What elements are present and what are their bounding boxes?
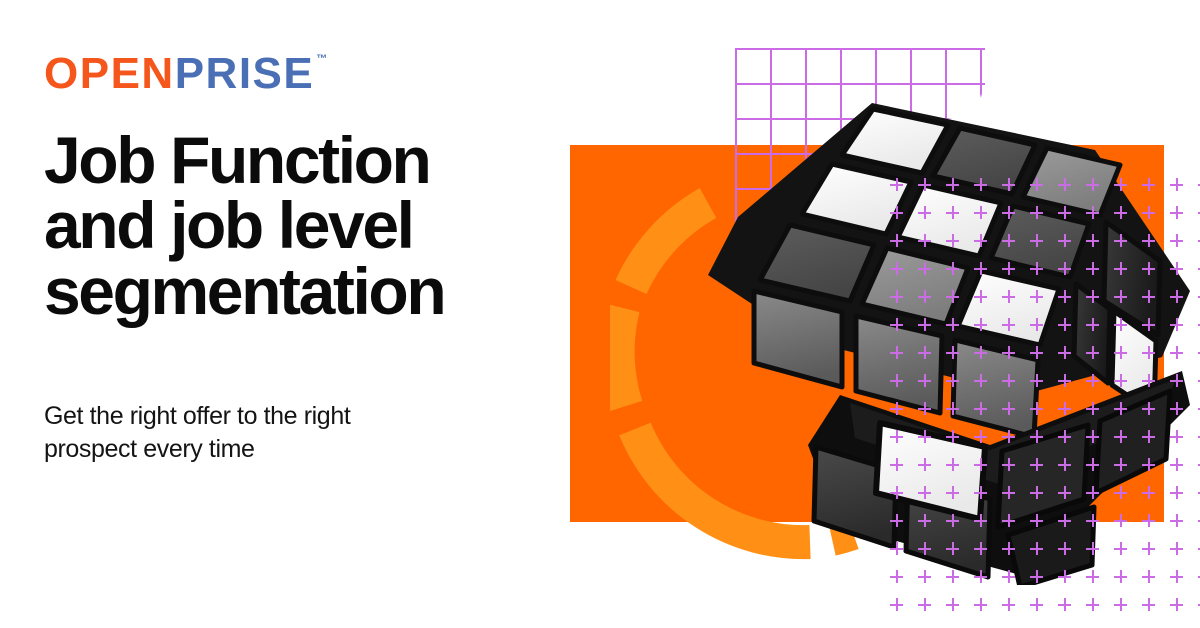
plus-marker bbox=[1170, 542, 1183, 555]
plus-marker bbox=[946, 374, 959, 387]
plus-marker bbox=[1142, 262, 1155, 275]
plus-marker bbox=[1114, 206, 1127, 219]
plus-marker bbox=[1058, 542, 1071, 555]
plus-marker bbox=[1030, 430, 1043, 443]
plus-marker bbox=[1114, 430, 1127, 443]
plus-marker bbox=[890, 206, 903, 219]
plus-marker bbox=[1002, 290, 1015, 303]
plus-marker bbox=[946, 346, 959, 359]
plus-marker bbox=[974, 374, 987, 387]
plus-marker bbox=[946, 598, 959, 611]
plus-marker bbox=[1030, 262, 1043, 275]
plus-marker bbox=[1142, 486, 1155, 499]
plus-marker bbox=[918, 178, 931, 191]
plus-marker bbox=[1002, 346, 1015, 359]
plus-marker bbox=[1058, 178, 1071, 191]
plus-marker bbox=[890, 486, 903, 499]
plus-marker bbox=[1030, 234, 1043, 247]
plus-marker bbox=[1058, 514, 1071, 527]
plus-marker bbox=[1170, 486, 1183, 499]
plus-marker bbox=[1114, 374, 1127, 387]
plus-marker bbox=[1030, 598, 1043, 611]
plus-marker bbox=[1030, 206, 1043, 219]
plus-marker bbox=[1058, 458, 1071, 471]
plus-marker bbox=[918, 262, 931, 275]
page-subtitle: Get the right offer to the right prospec… bbox=[44, 400, 474, 465]
plus-marker bbox=[974, 178, 987, 191]
plus-marker bbox=[946, 234, 959, 247]
plus-marker bbox=[1002, 458, 1015, 471]
plus-marker bbox=[974, 430, 987, 443]
plus-marker bbox=[1058, 402, 1071, 415]
plus-marker bbox=[1002, 402, 1015, 415]
banner-canvas: OPEN PRISE ™ Job Function and job level … bbox=[0, 0, 1200, 628]
plus-marker bbox=[918, 570, 931, 583]
plus-marker bbox=[1002, 430, 1015, 443]
plus-marker bbox=[1170, 430, 1183, 443]
plus-marker bbox=[1114, 402, 1127, 415]
plus-marker bbox=[1002, 374, 1015, 387]
plus-marker bbox=[1114, 514, 1127, 527]
subtitle-line-2: prospect every time bbox=[44, 433, 474, 466]
plus-marker bbox=[974, 346, 987, 359]
plus-marker bbox=[1086, 542, 1099, 555]
plus-marker bbox=[1170, 290, 1183, 303]
plus-marker bbox=[1086, 346, 1099, 359]
plus-marker bbox=[1142, 598, 1155, 611]
plus-marker bbox=[890, 178, 903, 191]
plus-marker bbox=[1002, 486, 1015, 499]
plus-marker bbox=[1170, 318, 1183, 331]
plus-marker bbox=[1142, 318, 1155, 331]
purple-plus-grid-decoration bbox=[890, 178, 1200, 598]
plus-marker bbox=[890, 290, 903, 303]
plus-marker bbox=[1002, 318, 1015, 331]
plus-marker bbox=[946, 178, 959, 191]
plus-marker bbox=[918, 486, 931, 499]
plus-marker bbox=[890, 430, 903, 443]
plus-marker bbox=[1030, 486, 1043, 499]
plus-marker bbox=[974, 542, 987, 555]
plus-marker bbox=[1170, 598, 1183, 611]
hero-graphic bbox=[540, 0, 1200, 628]
page-title: Job Function and job level segmentation bbox=[44, 128, 564, 324]
headline-line-1: Job Function bbox=[44, 128, 564, 193]
plus-marker bbox=[1058, 318, 1071, 331]
plus-marker bbox=[1030, 318, 1043, 331]
plus-marker bbox=[1058, 262, 1071, 275]
plus-marker bbox=[1114, 346, 1127, 359]
plus-marker bbox=[1002, 514, 1015, 527]
plus-marker bbox=[1030, 178, 1043, 191]
subtitle-line-1: Get the right offer to the right bbox=[44, 400, 474, 433]
plus-marker bbox=[1114, 234, 1127, 247]
plus-marker bbox=[1142, 570, 1155, 583]
plus-marker bbox=[1002, 206, 1015, 219]
plus-marker bbox=[974, 234, 987, 247]
plus-marker bbox=[946, 542, 959, 555]
plus-marker bbox=[946, 290, 959, 303]
plus-marker bbox=[918, 514, 931, 527]
plus-marker bbox=[946, 570, 959, 583]
plus-marker bbox=[890, 234, 903, 247]
plus-marker bbox=[1002, 598, 1015, 611]
plus-marker bbox=[1170, 402, 1183, 415]
plus-marker bbox=[1114, 542, 1127, 555]
plus-marker bbox=[1086, 318, 1099, 331]
plus-marker bbox=[1030, 290, 1043, 303]
plus-marker bbox=[1058, 206, 1071, 219]
plus-marker bbox=[890, 458, 903, 471]
plus-marker bbox=[1114, 570, 1127, 583]
logo-text-prise: PRISE bbox=[175, 52, 315, 96]
logo-text-open: OPEN bbox=[44, 52, 175, 96]
plus-marker bbox=[1170, 346, 1183, 359]
plus-marker bbox=[1030, 570, 1043, 583]
plus-marker bbox=[1170, 262, 1183, 275]
plus-marker bbox=[918, 206, 931, 219]
plus-marker bbox=[1142, 290, 1155, 303]
plus-marker bbox=[1114, 598, 1127, 611]
plus-marker bbox=[1142, 514, 1155, 527]
plus-marker bbox=[1142, 542, 1155, 555]
plus-marker bbox=[1086, 290, 1099, 303]
plus-marker bbox=[1058, 430, 1071, 443]
plus-marker bbox=[974, 458, 987, 471]
plus-marker bbox=[1170, 206, 1183, 219]
plus-marker bbox=[890, 262, 903, 275]
plus-marker bbox=[1170, 234, 1183, 247]
plus-marker bbox=[1170, 458, 1183, 471]
plus-marker bbox=[890, 346, 903, 359]
plus-marker bbox=[946, 514, 959, 527]
plus-marker bbox=[1086, 486, 1099, 499]
plus-marker bbox=[974, 262, 987, 275]
plus-marker bbox=[918, 458, 931, 471]
trademark-symbol: ™ bbox=[316, 54, 328, 65]
plus-marker bbox=[1114, 486, 1127, 499]
plus-marker bbox=[1030, 514, 1043, 527]
plus-marker bbox=[1086, 514, 1099, 527]
plus-marker bbox=[1002, 542, 1015, 555]
plus-marker bbox=[918, 290, 931, 303]
plus-marker bbox=[918, 318, 931, 331]
plus-marker bbox=[974, 290, 987, 303]
plus-marker bbox=[1086, 570, 1099, 583]
plus-marker bbox=[918, 234, 931, 247]
plus-marker bbox=[1170, 178, 1183, 191]
plus-marker bbox=[1086, 430, 1099, 443]
plus-marker bbox=[1114, 178, 1127, 191]
plus-marker bbox=[1086, 206, 1099, 219]
plus-marker bbox=[1086, 178, 1099, 191]
plus-marker bbox=[1030, 542, 1043, 555]
plus-marker bbox=[974, 318, 987, 331]
plus-marker bbox=[974, 402, 987, 415]
plus-marker bbox=[974, 206, 987, 219]
plus-marker bbox=[1086, 234, 1099, 247]
plus-marker bbox=[1142, 430, 1155, 443]
plus-marker bbox=[1086, 598, 1099, 611]
headline-line-2: and job level bbox=[44, 193, 564, 258]
plus-marker bbox=[1030, 374, 1043, 387]
plus-marker bbox=[918, 402, 931, 415]
plus-marker bbox=[1058, 290, 1071, 303]
plus-marker bbox=[1114, 318, 1127, 331]
plus-marker bbox=[1002, 262, 1015, 275]
plus-marker bbox=[1142, 206, 1155, 219]
plus-marker bbox=[918, 374, 931, 387]
plus-marker bbox=[1058, 234, 1071, 247]
plus-marker bbox=[1170, 514, 1183, 527]
plus-marker bbox=[946, 458, 959, 471]
plus-marker bbox=[918, 430, 931, 443]
plus-marker bbox=[1170, 570, 1183, 583]
plus-marker bbox=[1142, 234, 1155, 247]
plus-marker bbox=[974, 598, 987, 611]
plus-marker bbox=[974, 486, 987, 499]
plus-marker bbox=[946, 318, 959, 331]
openprise-logo[interactable]: OPEN PRISE ™ bbox=[44, 52, 328, 96]
plus-marker bbox=[1058, 486, 1071, 499]
plus-marker bbox=[1114, 458, 1127, 471]
plus-marker bbox=[1142, 178, 1155, 191]
plus-marker bbox=[890, 598, 903, 611]
plus-marker bbox=[890, 374, 903, 387]
plus-marker bbox=[1030, 458, 1043, 471]
plus-marker bbox=[1142, 458, 1155, 471]
plus-marker bbox=[1058, 346, 1071, 359]
plus-marker bbox=[1142, 374, 1155, 387]
plus-marker bbox=[890, 514, 903, 527]
plus-marker bbox=[1086, 374, 1099, 387]
plus-marker bbox=[1002, 178, 1015, 191]
plus-marker bbox=[1030, 346, 1043, 359]
plus-marker bbox=[1002, 234, 1015, 247]
plus-marker bbox=[946, 430, 959, 443]
plus-marker bbox=[974, 514, 987, 527]
plus-marker bbox=[1002, 570, 1015, 583]
plus-marker bbox=[946, 486, 959, 499]
plus-marker bbox=[946, 262, 959, 275]
plus-marker bbox=[918, 542, 931, 555]
plus-marker bbox=[1058, 570, 1071, 583]
plus-marker bbox=[946, 402, 959, 415]
plus-marker bbox=[890, 570, 903, 583]
headline-line-3: segmentation bbox=[44, 259, 564, 324]
plus-marker bbox=[918, 346, 931, 359]
plus-marker bbox=[890, 318, 903, 331]
plus-marker bbox=[946, 206, 959, 219]
plus-marker bbox=[918, 598, 931, 611]
plus-marker bbox=[974, 570, 987, 583]
plus-marker bbox=[1086, 262, 1099, 275]
plus-marker bbox=[1030, 402, 1043, 415]
plus-marker bbox=[1086, 402, 1099, 415]
plus-marker bbox=[1142, 346, 1155, 359]
plus-marker bbox=[1114, 262, 1127, 275]
plus-marker bbox=[1086, 458, 1099, 471]
plus-marker bbox=[1142, 402, 1155, 415]
plus-marker bbox=[1058, 374, 1071, 387]
plus-marker bbox=[1058, 598, 1071, 611]
plus-marker bbox=[890, 542, 903, 555]
plus-marker bbox=[890, 402, 903, 415]
plus-marker bbox=[1114, 290, 1127, 303]
plus-marker bbox=[1170, 374, 1183, 387]
